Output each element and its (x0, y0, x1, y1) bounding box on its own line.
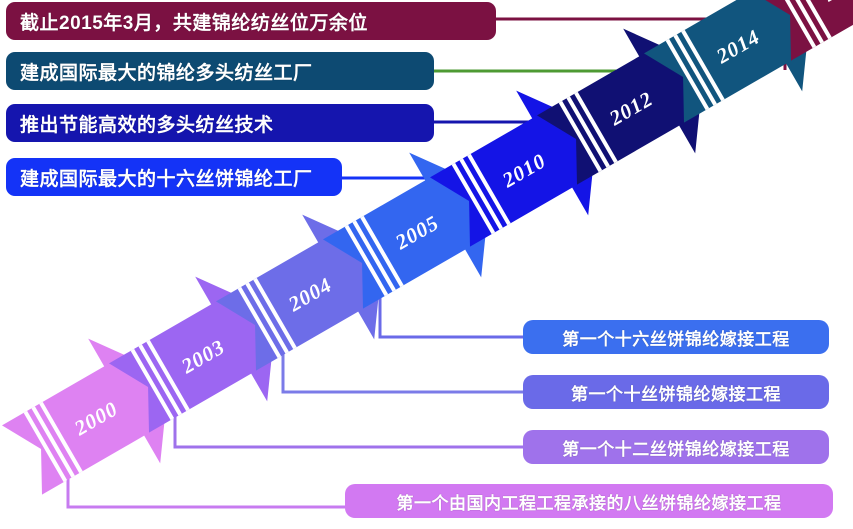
callout-right-2004-label: 第一个十丝饼锦纶嫁接工程 (571, 380, 781, 405)
callout-right-2000[interactable]: 第一个由国内工程工程承接的八丝饼锦纶嫁接工程 (345, 484, 833, 518)
callout-left-2010[interactable]: 建成国际最大的十六丝饼锦纶工厂 (6, 158, 342, 196)
callout-right-2003-label: 第一个十二丝饼锦纶嫁接工程 (562, 435, 790, 460)
callout-right-2005[interactable]: 第一个十六丝饼锦纶嫁接工程 (523, 320, 829, 354)
callout-left-2012[interactable]: 推出节能高效的多头纺丝技术 (6, 104, 434, 142)
callout-right-2004[interactable]: 第一个十丝饼锦纶嫁接工程 (523, 375, 829, 409)
callout-left-2012-label: 推出节能高效的多头纺丝技术 (20, 110, 274, 137)
callout-left-2014-label: 建成国际最大的锦纶多头纺丝工厂 (20, 58, 313, 85)
callout-left-2014[interactable]: 建成国际最大的锦纶多头纺丝工厂 (6, 52, 434, 90)
callout-right-2003[interactable]: 第一个十二丝饼锦纶嫁接工程 (523, 430, 829, 464)
callout-right-2000-label: 第一个由国内工程工程承接的八丝饼锦纶嫁接工程 (397, 489, 782, 514)
callout-left-2015[interactable]: 截止2015年3月，共建锦纶纺丝位万余位 (6, 2, 496, 40)
timeline-diagram: 2000 2003 2004 2005 (0, 0, 853, 529)
callout-left-2015-label: 截止2015年3月，共建锦纶纺丝位万余位 (20, 8, 368, 35)
callout-right-2005-label: 第一个十六丝饼锦纶嫁接工程 (562, 325, 790, 350)
callout-left-2010-label: 建成国际最大的十六丝饼锦纶工厂 (20, 164, 313, 191)
